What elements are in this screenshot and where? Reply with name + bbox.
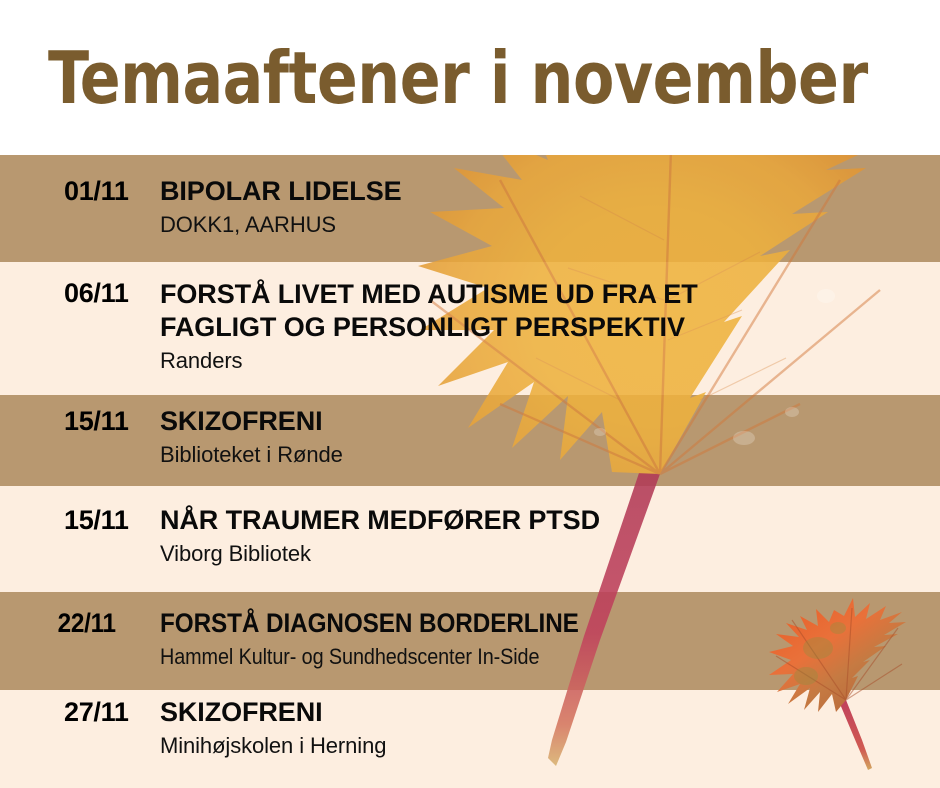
event-date: 15/11 [0,406,160,437]
event-place: DOKK1, AARHUS [160,211,940,239]
event-place: Randers [160,347,940,375]
event-place: Hammel Kultur- og Sundhedscenter In-Side [160,643,862,671]
event-row[interactable]: 22/11 FORSTÅ DIAGNOSEN BORDERLINE Hammel… [0,608,940,670]
event-info: FORSTÅ DIAGNOSEN BORDERLINE Hammel Kultu… [160,608,940,670]
poster-header: Temaaftener i november [0,0,940,155]
event-row[interactable]: 15/11 SKIZOFRENI Biblioteket i Rønde [0,406,940,468]
event-place: Minihøjskolen i Herning [160,732,940,760]
event-place: Viborg Bibliotek [160,540,940,568]
event-row[interactable]: 15/11 NÅR TRAUMER MEDFØRER PTSD Viborg B… [0,505,940,567]
event-title: FORSTÅ DIAGNOSEN BORDERLINE [160,608,862,640]
event-place: Biblioteket i Rønde [160,441,940,469]
event-row[interactable]: 06/11 FORSTÅ LIVET MED AUTISME UD FRA ET… [0,278,940,374]
event-title: SKIZOFRENI [160,406,940,438]
event-date: 15/11 [0,505,160,536]
event-title: NÅR TRAUMER MEDFØRER PTSD [160,505,940,537]
event-date: 22/11 [0,608,144,639]
page-title: Temaaftener i november [48,42,868,114]
event-info: NÅR TRAUMER MEDFØRER PTSD Viborg Bibliot… [160,505,940,567]
event-title: SKIZOFRENI [160,697,940,729]
event-row[interactable]: 27/11 SKIZOFRENI Minihøjskolen i Herning [0,697,940,759]
event-title-line2: FAGLIGT OG PERSONLIGT PERSPEKTIV [160,311,940,344]
event-row[interactable]: 01/11 BIPOLAR LIDELSE DOKK1, AARHUS [0,176,940,238]
event-date: 01/11 [0,176,160,207]
event-info: FORSTÅ LIVET MED AUTISME UD FRA ET FAGLI… [160,278,940,374]
event-title: BIPOLAR LIDELSE [160,176,940,208]
event-title-line1: FORSTÅ LIVET MED AUTISME UD FRA ET [160,278,940,311]
poster-canvas: Temaaftener i november 01/11 BIPOLAR LID… [0,0,940,788]
event-info: SKIZOFRENI Biblioteket i Rønde [160,406,940,468]
event-date: 27/11 [0,697,160,728]
event-info: BIPOLAR LIDELSE DOKK1, AARHUS [160,176,940,238]
event-date: 06/11 [0,278,160,309]
event-info: SKIZOFRENI Minihøjskolen i Herning [160,697,940,759]
